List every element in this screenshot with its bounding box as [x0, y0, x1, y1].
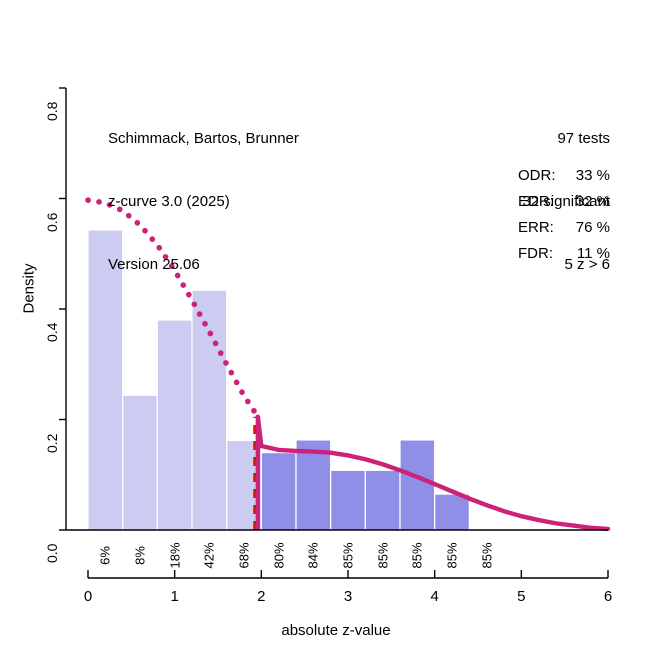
- bar-power-label: 6%: [98, 536, 113, 576]
- y-axis-tick-label: 0.6: [44, 198, 60, 232]
- statistic-row: ODR:33 %: [518, 163, 610, 189]
- method-credit: Schimmack, Bartos, Brunner z-curve 3.0 (…: [108, 86, 299, 317]
- x-axis-title: absolute z-value: [0, 622, 672, 639]
- method-line: z-curve 3.0 (2025): [108, 191, 299, 212]
- histogram-bar: [365, 470, 400, 530]
- x-axis-tick-label: 0: [73, 588, 103, 605]
- bar-power-label: 8%: [133, 536, 148, 576]
- bar-power-label: 85%: [445, 536, 460, 576]
- x-axis-tick-label: 6: [593, 588, 623, 605]
- histogram-bar: [123, 395, 158, 530]
- y-axis-tick-label: 0.4: [44, 308, 60, 342]
- statistic-value: 11 %: [564, 241, 610, 267]
- y-axis-tick-label: 0.2: [44, 419, 60, 453]
- statistic-row: FDR:11 %: [518, 241, 610, 267]
- histogram-bar: [192, 290, 227, 530]
- statistics-panel: ODR:33 %EDR:32 %ERR:76 %FDR:11 %: [518, 163, 610, 267]
- z-curve-plot: Schimmack, Bartos, Brunner z-curve 3.0 (…: [0, 0, 672, 671]
- y-axis-tick-label: 0.0: [44, 529, 60, 563]
- histogram-bar: [400, 440, 435, 530]
- tests-count: 97 tests: [522, 128, 610, 149]
- bar-power-label: 80%: [271, 536, 286, 576]
- statistic-row: ERR:76 %: [518, 215, 610, 241]
- histogram-bar: [157, 320, 192, 530]
- bar-power-label: 85%: [341, 536, 356, 576]
- bar-power-label: 84%: [306, 536, 321, 576]
- authors-line: Schimmack, Bartos, Brunner: [108, 128, 299, 149]
- x-axis-tick-label: 3: [333, 588, 363, 605]
- statistic-value: 76 %: [564, 215, 610, 241]
- statistic-key: EDR:: [518, 189, 564, 215]
- x-axis-tick-label: 2: [246, 588, 276, 605]
- bar-power-label: 85%: [375, 536, 390, 576]
- x-axis-tick-label: 4: [420, 588, 450, 605]
- statistic-value: 32 %: [564, 189, 610, 215]
- statistic-key: ERR:: [518, 215, 564, 241]
- y-axis-tick-label: 0.8: [44, 87, 60, 121]
- x-axis-tick-label: 1: [160, 588, 190, 605]
- bar-power-label: 85%: [479, 536, 494, 576]
- histogram-bar: [331, 470, 366, 530]
- bar-power-label: 18%: [167, 536, 182, 576]
- statistic-value: 33 %: [564, 163, 610, 189]
- bar-power-label: 68%: [237, 536, 252, 576]
- bar-power-label: 85%: [410, 536, 425, 576]
- statistic-key: FDR:: [518, 241, 564, 267]
- statistic-key: ODR:: [518, 163, 564, 189]
- version-line: Version 25.06: [108, 254, 299, 275]
- x-axis-tick-label: 5: [506, 588, 536, 605]
- bar-power-label: 42%: [202, 536, 217, 576]
- histogram-bar: [261, 453, 296, 530]
- y-axis-title: Density: [21, 244, 38, 334]
- statistic-row: EDR:32 %: [518, 189, 610, 215]
- histogram-bar: [435, 494, 470, 530]
